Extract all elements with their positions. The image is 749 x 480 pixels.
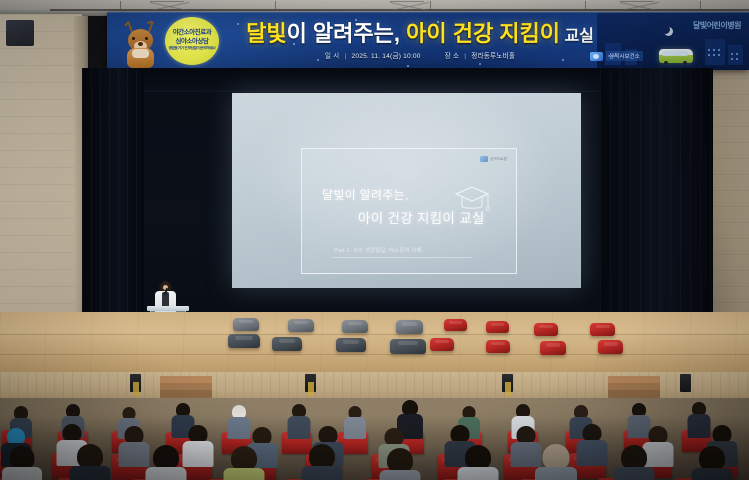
- audience-member: [694, 446, 730, 480]
- stage-monitor-speaker: [680, 374, 691, 392]
- place-separator: |: [464, 53, 466, 60]
- banner-subtitle: 일 시 | 2025. 11. 14(금) 10:00 장 소 | 정라동루노비…: [240, 50, 600, 60]
- audience-member: [460, 445, 496, 480]
- slide-line-1: 달빛이 알려주는,: [322, 186, 409, 203]
- audience-member: [72, 444, 108, 480]
- audience-member: [344, 406, 366, 437]
- bag-item: [228, 334, 260, 348]
- slide-part-label: Part 1. 소아 성장발달, 야뇨증의 이해: [334, 246, 422, 254]
- date-separator: |: [345, 53, 347, 60]
- bubble-line-2: 심야소아상담: [165, 36, 219, 45]
- audience-member: [578, 424, 606, 464]
- banner-title-part-4: 교실: [560, 28, 594, 45]
- organizer-logo-text: 삼척시보건소: [606, 51, 643, 61]
- bag-item: [396, 320, 423, 334]
- event-photo-scene: 야간소아진료과 심야소아상담 병원을 가기 전 부담없이 문의하세요!: [0, 0, 749, 480]
- audience-member: [148, 445, 184, 480]
- slide-line-2: 아이 건강 지킴이 교실: [358, 207, 485, 227]
- stage-edge-marker: [133, 382, 139, 396]
- bag-item: [534, 323, 558, 336]
- bag-item: [342, 320, 368, 333]
- bag-item: [486, 321, 509, 333]
- stage-steps: [160, 376, 212, 398]
- stage-floor: [0, 312, 749, 374]
- bag-item: [540, 341, 566, 355]
- event-banner: 야간소아진료과 심야소아상담 병원을 가기 전 부담없이 문의하세요!: [107, 12, 749, 70]
- mascot-speech-bubble: 야간소아진료과 심야소아상담 병원을 가기 전 부담없이 문의하세요!: [165, 17, 219, 65]
- slide-logo-mark-icon: [480, 156, 488, 162]
- audience-member: [538, 444, 574, 480]
- place-label: 장 소: [445, 53, 460, 60]
- banner-title: 달빛이 알려주는, 아이 건강 지킴이 교실: [240, 21, 600, 50]
- audience-member: [616, 445, 652, 480]
- audience-member: [4, 446, 40, 480]
- bubble-line-3: 병원을 가기 전 부담없이 문의하세요!: [165, 46, 219, 51]
- moon-icon: [661, 25, 670, 34]
- place-value: 정라동루노비홀: [471, 53, 515, 60]
- audience-member: [304, 444, 340, 480]
- podium-top: [147, 306, 189, 311]
- wall-sconce-left: [6, 20, 34, 46]
- auditorium-seating: [0, 398, 749, 480]
- bag-item: [233, 318, 259, 331]
- banner-title-part-3: 아이 건강 지킴이: [406, 21, 560, 46]
- banner-place-group: 장 소 | 정라동루노비홀: [445, 50, 515, 60]
- audience-member: [688, 402, 710, 437]
- audience-member: [228, 405, 250, 437]
- stage-edge-marker: [308, 382, 314, 396]
- organizer-logo-mark-icon: [590, 52, 603, 61]
- slide-logo: 삼척의료원: [480, 156, 507, 162]
- banner-date-group: 일 시 | 2025. 11. 14(금) 10:00: [325, 50, 421, 60]
- audience-member: [226, 446, 262, 480]
- audience-member: [184, 425, 212, 464]
- date-value: 2025. 11. 14(금) 10:00: [351, 53, 420, 60]
- banner-title-part-1: 달빛: [246, 21, 286, 46]
- bag-item: [590, 323, 615, 336]
- city-logo-text: 달빛어린이병원: [693, 21, 741, 30]
- banner-title-part-2: 이 알려주는,: [287, 21, 407, 46]
- audience-member: [288, 404, 310, 437]
- bag-item: [336, 338, 366, 352]
- stage-edge-marker: [505, 382, 511, 396]
- audience-member: [512, 426, 540, 464]
- audience-member: [382, 448, 418, 480]
- bag-item: [390, 339, 426, 354]
- organizer-logo: 삼척시보건소: [590, 51, 643, 61]
- night-clinic-bus-icon: [659, 49, 693, 63]
- bubble-line-1: 야간소아진료과: [165, 27, 219, 36]
- banner-cityscape: 달빛어린이병원: [597, 13, 749, 70]
- bag-item: [598, 340, 623, 354]
- deer-mascot-icon: [119, 19, 165, 69]
- bag-item: [288, 319, 314, 332]
- presentation-slide: 삼척의료원 달빛이 알려주는, 아이 건강 지킴이 교실 Part 1. 소아 …: [301, 148, 517, 274]
- audience-member: [120, 426, 148, 464]
- bag-item: [486, 340, 510, 353]
- bag-item: [272, 337, 302, 351]
- date-label: 일 시: [325, 53, 340, 60]
- stage-steps: [608, 376, 660, 398]
- bag-item: [430, 338, 454, 351]
- slide-logo-text: 삼척의료원: [490, 157, 507, 162]
- slide-divider: [332, 257, 472, 258]
- bag-item: [444, 319, 467, 331]
